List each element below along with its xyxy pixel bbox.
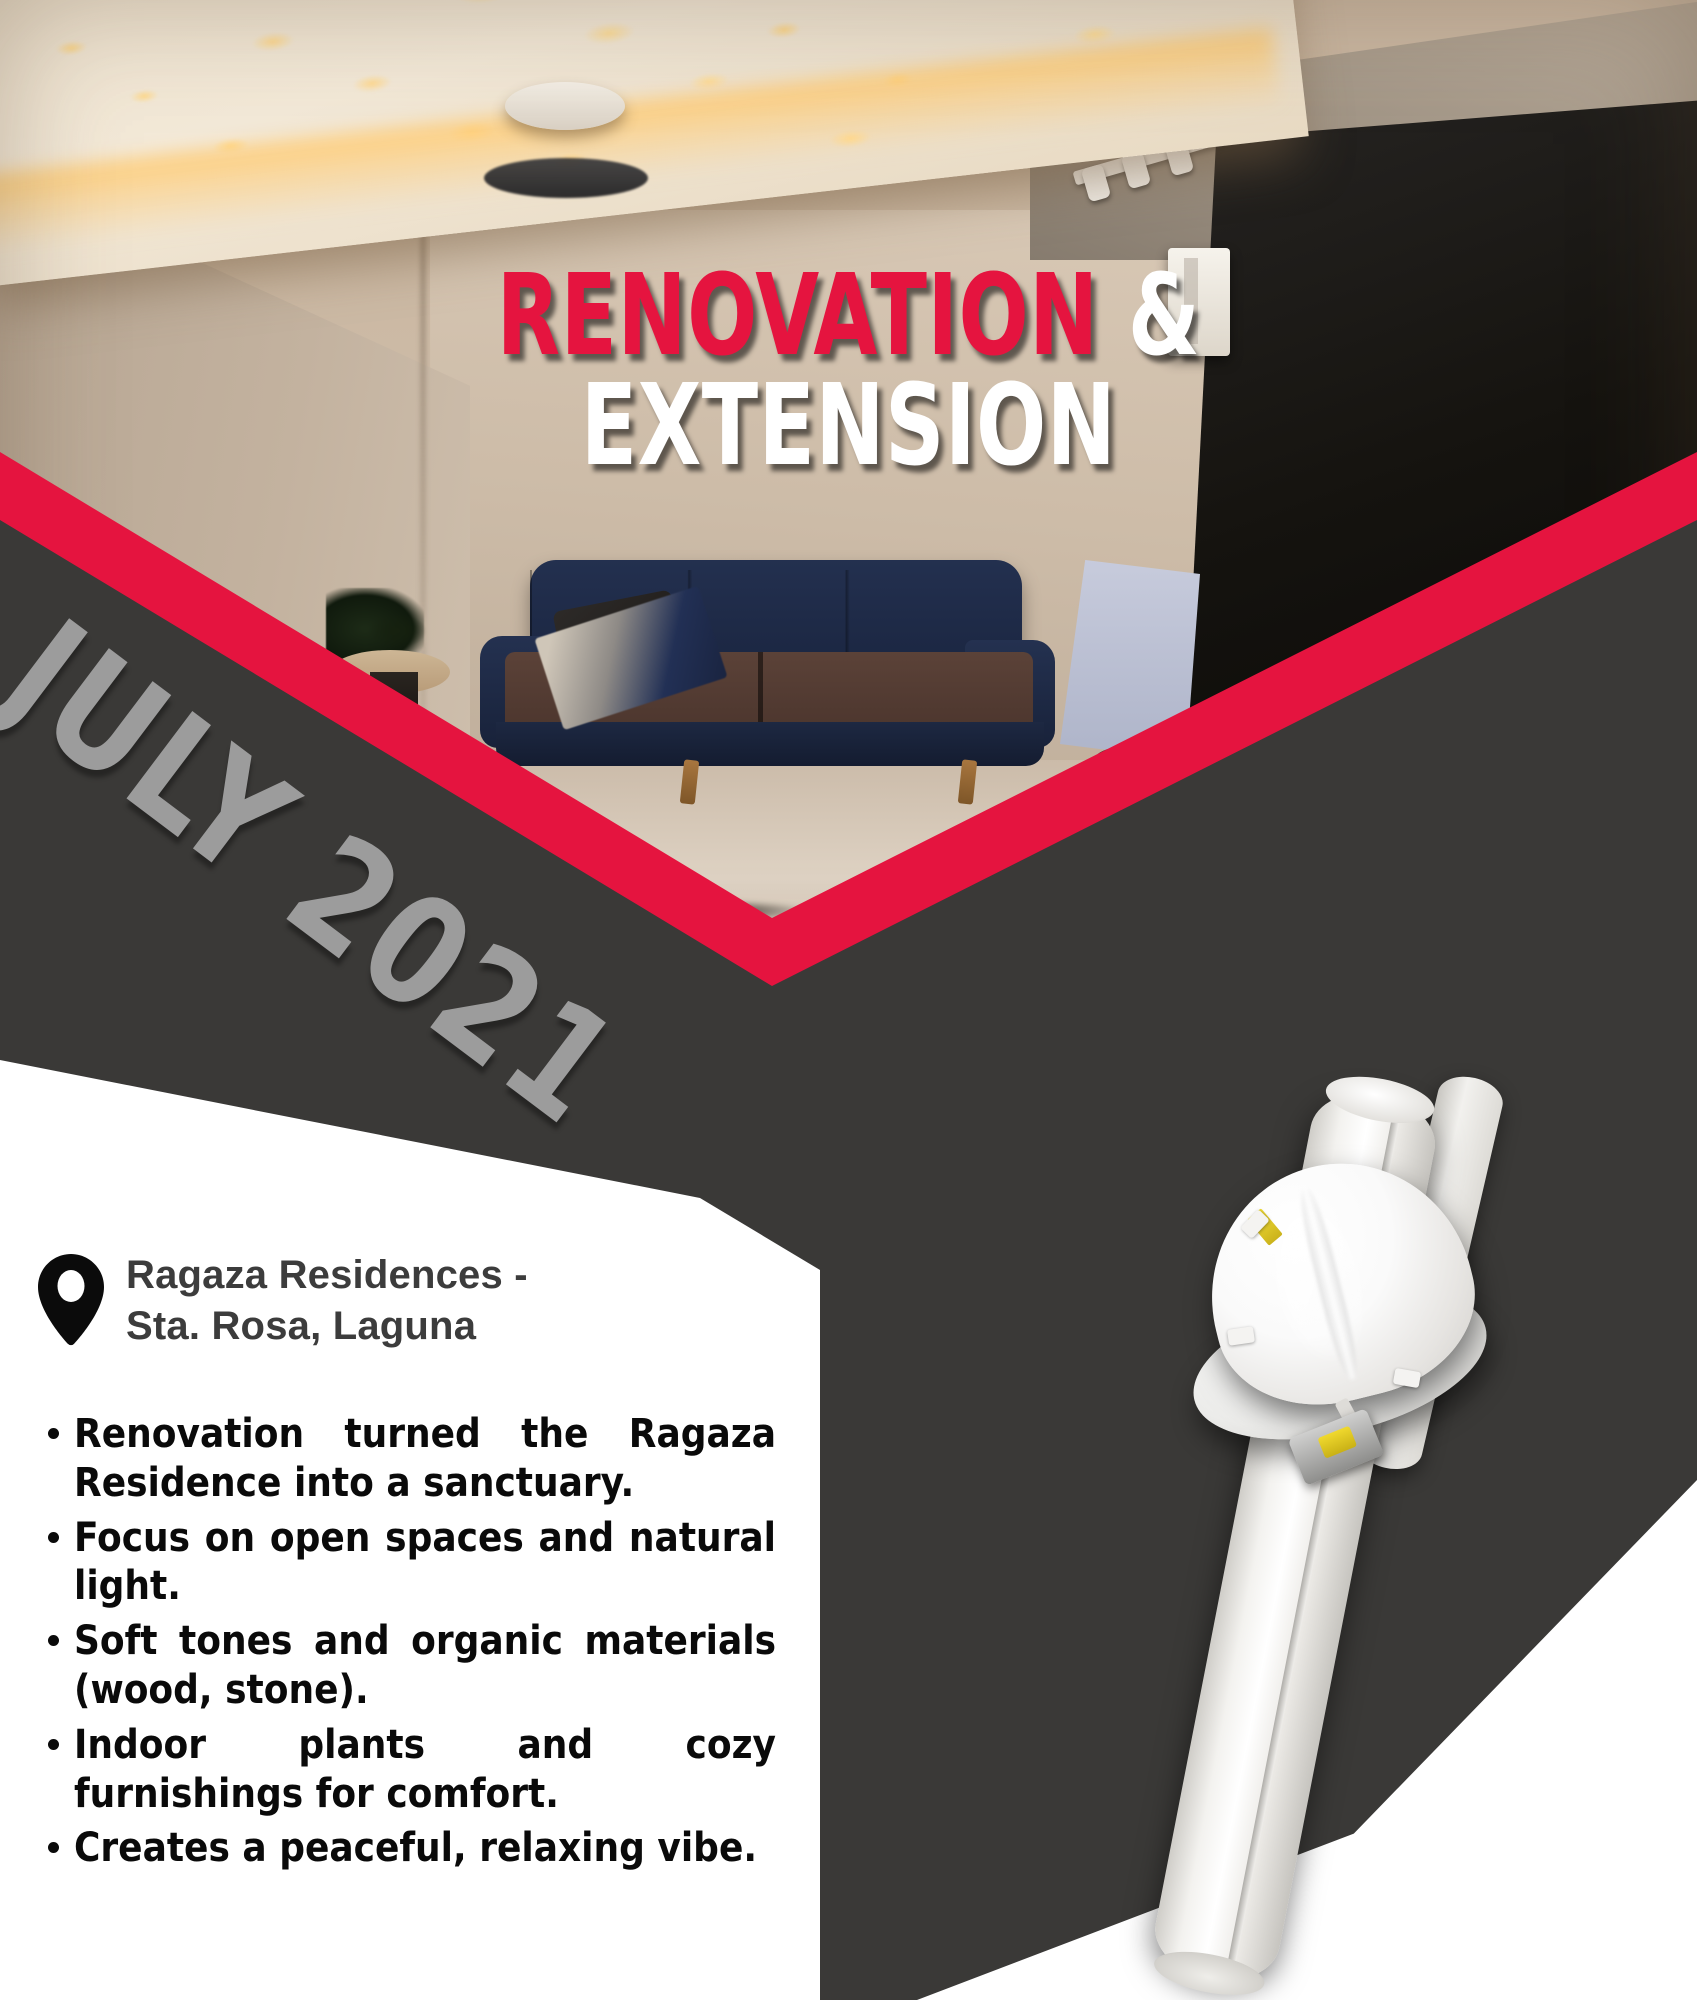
bullet-text: Renovation turned the Ragaza Residence i… [74,1411,776,1506]
list-item: Indoor plants and cozy furnishings for c… [34,1721,776,1819]
location-block: Ragaza Residences - Sta. Rosa, Laguna [38,1250,738,1352]
list-item: Soft tones and organic materials (wood, … [34,1617,776,1715]
bullet-text: Creates a peaceful, relaxing vibe. [74,1825,757,1871]
location-text: Ragaza Residences - Sta. Rosa, Laguna [126,1250,528,1352]
bullet-text: Focus on open spaces and natural light. [74,1515,776,1610]
location-line-2: Sta. Rosa, Laguna [126,1301,528,1352]
list-item: Creates a peaceful, relaxing vibe. [34,1824,776,1873]
list-item: Renovation turned the Ragaza Residence i… [34,1410,776,1508]
hard-hat-image [1168,1150,1508,1480]
poster-canvas: RENOVATION & EXTENSION JULY 2021 [0,0,1697,2000]
location-line-1: Ragaza Residences - [126,1250,528,1301]
location-pin-icon [38,1254,104,1346]
list-item: Focus on open spaces and natural light. [34,1514,776,1612]
feature-bullet-list: Renovation turned the Ragaza Residence i… [34,1410,776,1879]
bullet-text: Indoor plants and cozy furnishings for c… [74,1722,776,1817]
bullet-text: Soft tones and organic materials (wood, … [74,1618,776,1713]
